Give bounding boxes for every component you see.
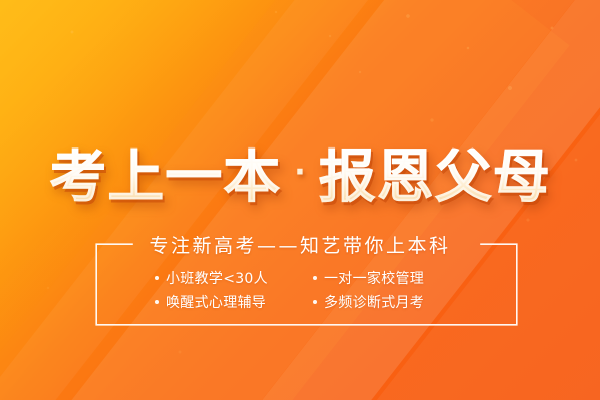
bullet-icon xyxy=(155,276,159,280)
feature-label: 小班教学<30人 xyxy=(166,268,268,288)
list-item: 一对一家校管理 xyxy=(313,268,445,288)
bullet-icon xyxy=(313,300,317,304)
headline: 考上一本 · 报恩父母 xyxy=(0,140,600,214)
feature-label: 一对一家校管理 xyxy=(324,268,424,288)
headline-separator-dot: · xyxy=(294,158,305,188)
feature-label: 唤醒式心理辅导 xyxy=(166,292,266,312)
subtitle-text: 专注新高考——知艺带你上本科 xyxy=(135,231,464,258)
headline-left: 考上一本 xyxy=(49,149,281,206)
list-item: 唤醒式心理辅导 xyxy=(155,292,287,312)
headline-right: 报恩父母 xyxy=(319,149,551,206)
promo-banner: 考上一本 · 报恩父母 专注新高考——知艺带你上本科 小班教学<30人 一对一家… xyxy=(0,0,600,400)
bullet-icon xyxy=(313,276,317,280)
feature-label: 多频诊断式月考 xyxy=(324,292,424,312)
subtitle: 专注新高考——知艺带你上本科 xyxy=(0,231,600,258)
feature-list: 小班教学<30人 一对一家校管理 唤醒式心理辅导 多频诊断式月考 xyxy=(0,268,600,312)
feature-row-2: 唤醒式心理辅导 多频诊断式月考 xyxy=(155,292,445,312)
list-item: 小班教学<30人 xyxy=(155,268,287,288)
list-item: 多频诊断式月考 xyxy=(313,292,445,312)
bullet-icon xyxy=(155,300,159,304)
feature-row-1: 小班教学<30人 一对一家校管理 xyxy=(155,268,445,288)
